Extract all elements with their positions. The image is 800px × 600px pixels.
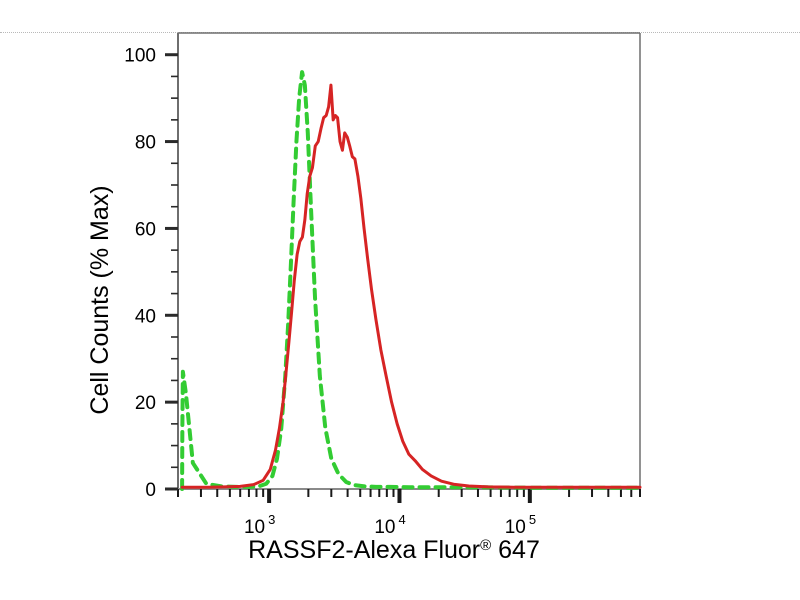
histogram-plot: 103104105 020406080100 RASSF2-Alexa Fluo… [0, 0, 800, 600]
series-line [182, 72, 640, 489]
y-tick-label: 80 [135, 133, 156, 154]
y-axis-title: Cell Counts (% Max) [86, 185, 114, 414]
flow-cytometry-figure: 103104105 020406080100 RASSF2-Alexa Fluo… [0, 0, 800, 600]
y-axis-ticks [165, 55, 178, 489]
x-tick-exponent: 5 [529, 512, 536, 527]
x-tick-label: 10 [505, 517, 526, 538]
y-tick-label: 40 [135, 306, 156, 327]
plot-frame [178, 33, 640, 489]
y-axis-tick-labels: 020406080100 [124, 46, 156, 501]
x-axis-title: RASSF2-Alexa Fluor® 647 [248, 536, 540, 564]
y-tick-label: 20 [135, 393, 156, 414]
series-line [182, 85, 640, 487]
y-tick-label: 100 [124, 46, 156, 67]
y-tick-label: 60 [135, 219, 156, 240]
x-tick-label: 10 [374, 517, 395, 538]
x-axis-tick-labels: 103104105 [244, 512, 536, 538]
x-tick-exponent: 4 [398, 512, 405, 527]
x-axis-ticks [178, 489, 640, 503]
x-tick-label: 10 [244, 517, 265, 538]
x-tick-exponent: 3 [268, 512, 275, 527]
histogram-curves [182, 72, 640, 489]
y-tick-label: 0 [145, 480, 156, 501]
